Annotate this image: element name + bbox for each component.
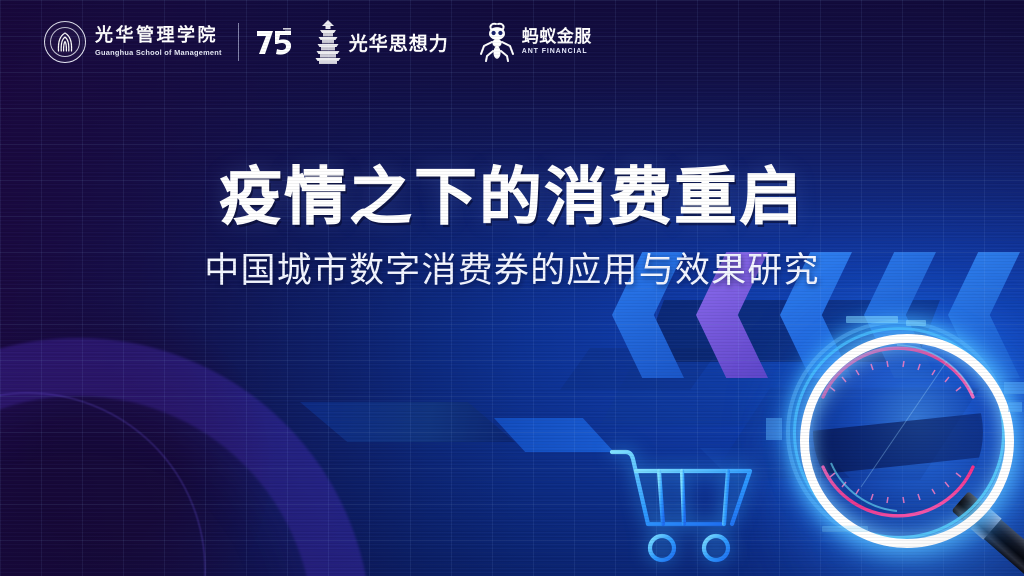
guanghua-school-of-management-logo: 光华管理学院 Guanghua School of Management (44, 21, 222, 63)
ant-financial-logo-text: 蚂蚁金服 ANT FINANCIAL (522, 29, 592, 56)
magnifier-hud-block-right (1004, 382, 1024, 394)
magnifier-hud-bar-top-2 (906, 320, 926, 326)
pagoda-icon (315, 20, 341, 64)
guanghua-seal-icon (44, 21, 86, 63)
magnifier-hud-bar-top (846, 316, 898, 323)
logo-bar: 光华管理学院 Guanghua School of Management (44, 16, 592, 68)
ant-mascot-icon (479, 22, 517, 62)
ant-financial-logo: 蚂蚁金服 ANT FINANCIAL (479, 22, 592, 62)
guanghua-logo-text: 光华管理学院 Guanghua School of Management (95, 27, 222, 57)
shopping-cart-icon (600, 438, 780, 570)
guanghua-name-en: Guanghua School of Management (95, 48, 222, 57)
guanghua-name-cn: 光华管理学院 (95, 27, 222, 46)
ant-financial-name-en: ANT FINANCIAL (522, 48, 592, 55)
magnifier-hud-block-left (766, 418, 782, 440)
magnifier-glow-ring (800, 334, 1014, 548)
think-tank-label: 光华思想力 (349, 29, 449, 56)
magnifier-hud-bar-bottom (822, 526, 868, 532)
ant-financial-name-cn: 蚂蚁金服 (522, 29, 592, 47)
magnifier-hud-block-right-2 (1008, 402, 1022, 412)
logo-divider (238, 23, 239, 61)
title-slide: 光华管理学院 Guanghua School of Management (0, 0, 1024, 576)
anniversary-75-mark (255, 27, 293, 57)
guanghua-seal-glyph (56, 32, 74, 52)
guanghua-think-tank-logo: 光华思想力 (315, 20, 449, 64)
magnifying-glass-icon (782, 318, 1024, 576)
